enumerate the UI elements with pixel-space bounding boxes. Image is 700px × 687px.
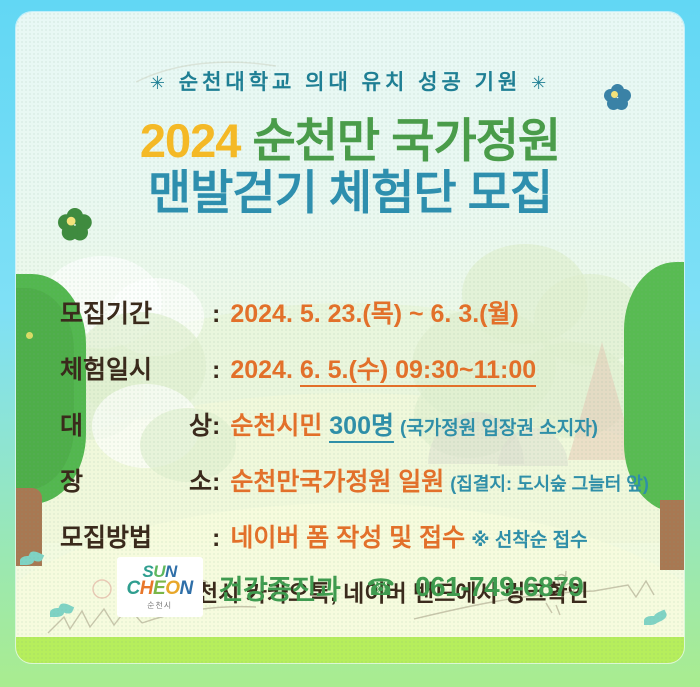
info-label-target: 대 상 [60, 406, 212, 442]
label-char-2: 상 [189, 406, 212, 442]
info-row-place: 장 소 : 순천만국가정원 일원 (집결지: 도시숲 그늘터 앞) [60, 462, 658, 498]
info-label-datetime: 체험일시 [60, 350, 212, 386]
phone-icon: ☎ [366, 574, 395, 601]
colon: : [212, 300, 220, 329]
label-char-1: 대 [60, 406, 83, 442]
target-plain: 순천시민 [230, 412, 329, 440]
tagline: ✳ 순천대학교 의대 유치 성공 기원 ✳ [16, 66, 684, 96]
poster-panel: ✳ 순천대학교 의대 유치 성공 기원 ✳ 2024 순천만 국가정원 맨발걷기… [16, 12, 684, 663]
info-note-target: (국가정원 입장권 소지자) [400, 413, 598, 440]
info-value-place: 순천만국가정원 일원 [230, 462, 444, 498]
colon: : [212, 356, 220, 385]
info-value-period: 2024. 5. 23.(목) ~ 6. 3.(월) [230, 294, 519, 330]
colon: : [212, 468, 220, 497]
logo-char-h: H [140, 578, 153, 599]
logo-line-cheon: CHEON [127, 579, 193, 598]
page-title: 2024 순천만 국가정원 맨발걷기 체험단 모집 [16, 116, 684, 219]
star-right-icon: ✳ [531, 73, 550, 93]
label-char-2: 소 [189, 462, 212, 498]
datetime-underlined: 6. 5.(수) 09:30~11:00 [300, 356, 536, 387]
suncheon-logo: SUN CHEON 순천시 [117, 557, 203, 617]
phone-number: 061-749-6879 [415, 571, 583, 603]
logo-char-n2: N [179, 578, 192, 599]
datetime-plain: 2024. [230, 356, 300, 384]
info-label-period: 모집기간 [60, 294, 212, 330]
info-value-target: 순천시민 300명 [230, 406, 394, 442]
info-row-datetime: 체험일시 : 2024. 6. 5.(수) 09:30~11:00 [60, 350, 658, 386]
logo-char-c: C [127, 578, 140, 599]
info-value-datetime: 2024. 6. 5.(수) 09:30~11:00 [230, 350, 536, 386]
department-name: 건강증진과 [219, 568, 341, 607]
title-line2-text: 맨발걷기 체험단 모집 [148, 166, 552, 219]
info-row-period: 모집기간 : 2024. 5. 23.(목) ~ 6. 3.(월) [60, 294, 658, 330]
info-row-target: 대 상 : 순천시민 300명 (국가정원 입장권 소지자) [60, 406, 658, 442]
title-line1-rest: 순천만 국가정원 [252, 114, 560, 167]
poster-content: ✳ 순천대학교 의대 유치 성공 기원 ✳ 2024 순천만 국가정원 맨발걷기… [16, 12, 684, 663]
logo-korean-name: 순천시 [147, 600, 172, 611]
info-label-place: 장 소 [60, 462, 212, 498]
info-note-place: (집결지: 도시숲 그늘터 앞) [450, 470, 649, 496]
info-value-method: 네이버 폼 작성 및 접수 [230, 518, 465, 554]
tagline-text: 순천대학교 의대 유치 성공 기원 [179, 71, 522, 94]
title-year: 2024 [140, 114, 241, 167]
title-line-2: 맨발걷기 체험단 모집 [16, 167, 684, 220]
logo-char-e: E [153, 578, 165, 599]
info-row-method: 모집방법 : 네이버 폼 작성 및 접수 ※ 선착순 접수 [60, 518, 658, 554]
footer: SUN CHEON 순천시 건강증진과 ☎ 061-749-6879 [16, 557, 684, 617]
target-count: 300명 [329, 412, 394, 443]
star-left-icon: ✳ [150, 73, 169, 93]
label-char-1: 장 [60, 462, 83, 498]
title-line-1: 2024 순천만 국가정원 [16, 116, 684, 167]
colon: : [212, 412, 220, 441]
info-label-method: 모집방법 [60, 518, 212, 554]
colon: : [212, 524, 220, 553]
logo-char-o: O [165, 578, 179, 599]
poster-root: ✳ 순천대학교 의대 유치 성공 기원 ✳ 2024 순천만 국가정원 맨발걷기… [0, 0, 700, 687]
info-note-method: ※ 선착순 접수 [471, 525, 587, 552]
